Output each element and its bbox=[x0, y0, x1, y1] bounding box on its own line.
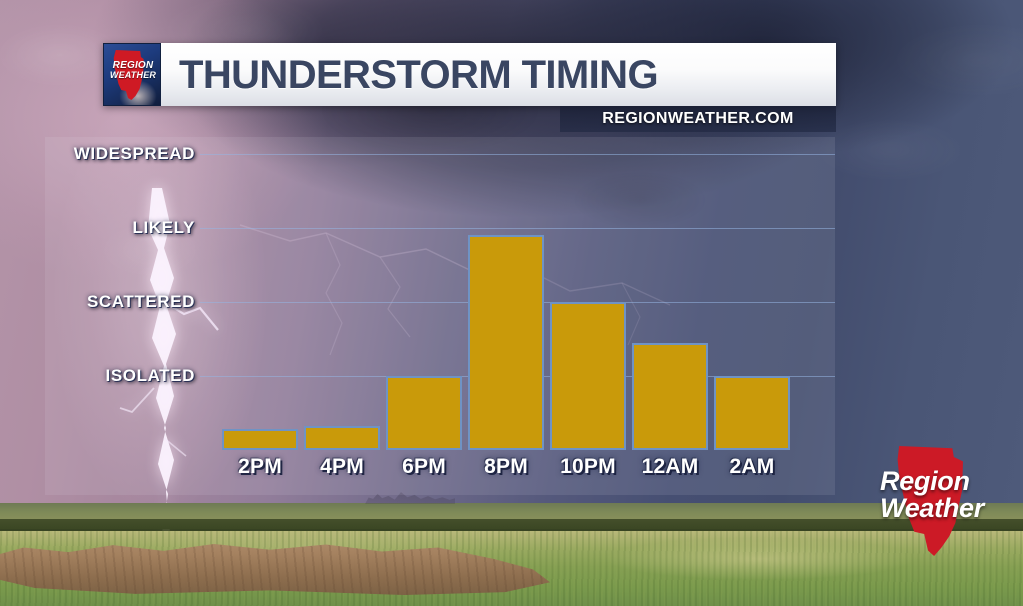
bar-4pm bbox=[304, 426, 380, 450]
website-url-bar: REGIONWEATHER.COM bbox=[560, 106, 836, 132]
watermark-line2: Weather bbox=[880, 495, 1012, 522]
bar-10pm bbox=[550, 302, 626, 450]
bar-2am bbox=[714, 376, 790, 450]
header-logo: REGION WEATHER bbox=[103, 43, 161, 106]
bar-2pm bbox=[222, 429, 298, 450]
x-axis-label-10pm: 10PM bbox=[544, 455, 632, 479]
bar-series bbox=[45, 137, 835, 495]
header-bar: REGION WEATHER THUNDERSTORM TIMING bbox=[103, 43, 836, 106]
bar-6pm bbox=[386, 376, 462, 450]
bar-chart: ISOLATEDSCATTEREDLIKELYWIDESPREAD 2PM4PM… bbox=[45, 137, 835, 495]
x-axis-label-6pm: 6PM bbox=[380, 455, 468, 479]
weather-graphic: REGION WEATHER THUNDERSTORM TIMING REGIO… bbox=[0, 0, 1023, 606]
header-logo-line2: WEATHER bbox=[106, 71, 160, 80]
title-plate: THUNDERSTORM TIMING bbox=[161, 43, 836, 106]
x-axis-label-12am: 12AM bbox=[626, 455, 714, 479]
website-url: REGIONWEATHER.COM bbox=[602, 110, 793, 128]
bar-12am bbox=[632, 343, 708, 450]
x-axis-label-8pm: 8PM bbox=[462, 455, 550, 479]
x-axis-label-2pm: 2PM bbox=[216, 455, 304, 479]
x-axis-label-2am: 2AM bbox=[708, 455, 796, 479]
x-axis-label-4pm: 4PM bbox=[298, 455, 386, 479]
corner-watermark-logo: Region Weather bbox=[880, 446, 1012, 558]
watermark-line1: Region bbox=[880, 468, 1012, 495]
bar-8pm bbox=[468, 235, 544, 450]
page-title: THUNDERSTORM TIMING bbox=[161, 55, 658, 95]
